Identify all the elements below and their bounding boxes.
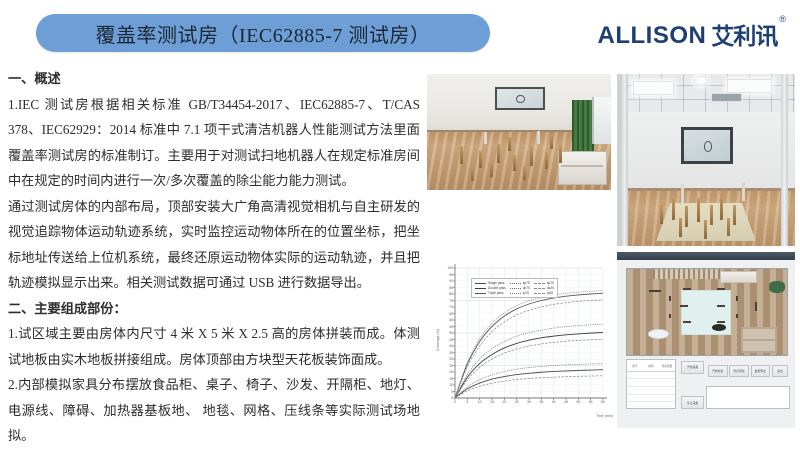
- obstacle-post: [685, 206, 688, 227]
- obstacle-marker: [669, 314, 671, 318]
- obstacle-post: [704, 220, 707, 239]
- obstacle-post: [513, 155, 516, 171]
- measurement-table[interactable]: 序号 时间 坐标位置: [626, 359, 676, 409]
- chart-x-tick-label: 40: [552, 398, 556, 404]
- section-2-heading: 二、主要组成部份：: [8, 296, 420, 322]
- table-row: [627, 394, 675, 395]
- chart-legend-item: sp75: [510, 281, 530, 285]
- section-1-heading: 一、概述: [8, 66, 420, 92]
- door-edge: [617, 74, 622, 246]
- software-title-bar: [617, 252, 795, 260]
- obstacle-marker: [683, 288, 691, 290]
- chart-y-tick-label: 30: [449, 357, 455, 361]
- chart-y-tick-label: 85: [449, 286, 455, 290]
- pause-test-button[interactable]: 暂停测试: [729, 365, 749, 378]
- ceiling-vent: [711, 93, 741, 102]
- chart-legend-swatch: [534, 293, 545, 294]
- chart-legend-swatch: [510, 283, 521, 284]
- obstacle-marker: [717, 288, 725, 290]
- chart-y-axis-label: Coverage (%): [436, 329, 440, 351]
- chart-legend-swatch: [475, 288, 486, 289]
- chart-y-tick-label: 100: [447, 266, 455, 270]
- chart-y-tick-label: 70: [449, 305, 455, 309]
- table-header-cell: 坐标位置: [659, 360, 675, 370]
- brand-logo: ALLISON 艾利讯 ®: [598, 14, 786, 48]
- obstacle-post: [460, 146, 463, 165]
- obstacle-marker: [736, 314, 738, 318]
- chart-legend-item: dp75: [510, 286, 530, 290]
- chart-legend-item: dp25: [534, 286, 554, 290]
- test-room-photo-wide: [617, 74, 795, 246]
- chart-y-tick-label: 15: [449, 377, 455, 381]
- chart-legend-label: Double pass: [488, 286, 506, 290]
- obstacle-post: [523, 166, 526, 180]
- log-output-panel[interactable]: [706, 386, 790, 409]
- obstacle-post: [497, 144, 500, 164]
- obstacle-post: [537, 131, 540, 144]
- chart-y-tick-label: 40: [449, 344, 455, 348]
- chart-plot-area: 0510152025303540455055606570758085909510…: [455, 268, 603, 398]
- obstacle-post: [672, 198, 675, 220]
- exit-button[interactable]: 退出: [772, 365, 788, 378]
- obstacle-post: [733, 205, 736, 226]
- obstacle-post: [490, 162, 493, 177]
- chart-y-tick-label: 60: [449, 318, 455, 322]
- chart-legend-item: sp25: [534, 281, 554, 285]
- chart-x-tick-label: 0: [454, 398, 456, 404]
- description-column: 一、概述 1.IEC 测试房根据相关标准 GB/T34454-2017、IEC6…: [8, 66, 420, 449]
- chart-legend-item: Double pass: [475, 286, 506, 290]
- obstacle-post: [545, 152, 548, 169]
- obstacle-post: [550, 135, 553, 149]
- robot-vacuum: [712, 324, 726, 331]
- slide-page: 覆盖率测试房（IEC62885-7 测试房） ALLISON 艾利讯 ® 一、概…: [0, 0, 800, 450]
- obstacle-marker: [717, 321, 725, 323]
- chart-y-tick-label: 90: [449, 279, 455, 283]
- chart-y-tick-label: 10: [449, 383, 455, 387]
- chart-x-tick-label: 20: [502, 398, 506, 404]
- ceiling-light: [727, 79, 772, 93]
- chart-x-tick-label: 5: [466, 398, 468, 404]
- ceiling-light: [633, 81, 674, 95]
- chart-legend-label: dp25: [547, 286, 554, 290]
- start-test-button[interactable]: 开始测试: [708, 365, 728, 378]
- wall-mounted-panel: [495, 87, 545, 111]
- obstacle-post: [559, 145, 562, 164]
- test-room-photo-floor: [427, 74, 611, 190]
- wall-mounted-panel: [681, 127, 733, 164]
- chart-legend-item: tp75: [510, 291, 530, 295]
- obstacle-post: [484, 132, 487, 144]
- obstacle-marker: [669, 296, 671, 300]
- chart-x-tick-label: 30: [527, 398, 531, 404]
- obstacle-post: [530, 146, 533, 166]
- obstacle-marker: [683, 321, 691, 323]
- chart-x-axis-label: Time (min): [596, 414, 613, 418]
- chart-x-tick-label: 10: [478, 398, 482, 404]
- section-1-paragraph-1: 1.IEC 测试房根据相关标准 GB/T34454-2017、IEC62885-…: [8, 92, 420, 194]
- coverage-chart: Coverage (%) Time (min) 0510152025303540…: [427, 256, 615, 424]
- chart-x-tick-label: 60: [601, 398, 605, 404]
- obstacle-post: [508, 137, 511, 151]
- logo-text-en: ALLISON: [598, 24, 707, 48]
- obstacle-marker: [717, 305, 725, 307]
- chart-y-tick-label: 95: [449, 273, 455, 277]
- chart-y-tick-label: 75: [449, 299, 455, 303]
- table-row: [627, 378, 675, 379]
- ceiling-vent-topdown: [653, 269, 720, 279]
- obstacle-post: [681, 184, 684, 203]
- overhead-camera-view: [626, 268, 788, 356]
- chart-legend-label: tp75: [523, 291, 529, 295]
- chart-legend-item: Triple pass: [475, 291, 506, 295]
- table-row: [627, 386, 675, 387]
- start-capture-button[interactable]: 开始采集: [681, 361, 704, 374]
- chart-legend-swatch: [510, 293, 521, 294]
- chart-legend: Single passsp75sp25Double passdp75dp25Tr…: [471, 278, 558, 298]
- logo-text-cn: 艾利讯: [711, 25, 777, 48]
- obstacle-marker: [736, 296, 738, 300]
- table-header-cell: 序号: [627, 360, 643, 370]
- chart-x-tick-label: 55: [589, 398, 593, 404]
- obstacle-post: [697, 198, 700, 222]
- chart-legend-swatch: [475, 283, 486, 284]
- chart-legend-swatch: [510, 288, 521, 289]
- chart-legend-swatch: [534, 283, 545, 284]
- floor-lamp-topdown: [648, 329, 669, 339]
- obstacle-post: [679, 218, 682, 237]
- page-title-banner: 覆盖率测试房（IEC62885-7 测试房）: [36, 14, 490, 52]
- chart-y-tick-label: 20: [449, 370, 455, 374]
- chart-legend-swatch: [475, 293, 486, 294]
- chart-x-tick-label: 15: [490, 398, 494, 404]
- chart-x-tick-label: 45: [564, 398, 568, 404]
- chart-legend-label: dp75: [523, 286, 530, 290]
- chart-legend-label: sp75: [523, 281, 530, 285]
- chart-x-tick-label: 25: [515, 398, 519, 404]
- obstacle-post: [710, 205, 713, 226]
- obstacle-post: [742, 182, 745, 201]
- chart-legend-swatch: [534, 288, 545, 289]
- plant-topdown: [769, 281, 785, 293]
- chart-y-tick-label: 80: [449, 292, 455, 296]
- obstacle-post: [479, 151, 482, 168]
- chart-y-tick-label: 25: [449, 364, 455, 368]
- chart-y-tick-label: 65: [449, 312, 455, 316]
- chart-x-tick-label: 50: [576, 398, 580, 404]
- chart-x-tick-label: 35: [539, 398, 543, 404]
- export-data-button[interactable]: 数据导出: [751, 365, 771, 378]
- section-1-paragraph-2: 通过测试房体的内部布局，顶部安装大广角高清视觉相机与自主研发的视觉追踪物体运动轨…: [8, 194, 420, 296]
- chart-legend-label: tp25: [547, 291, 553, 295]
- page-title: 覆盖率测试房（IEC62885-7 测试房）: [96, 19, 431, 48]
- obstacle-marker: [680, 305, 688, 307]
- registered-trademark-icon: ®: [779, 14, 786, 24]
- tracking-software-screenshot: 序号 时间 坐标位置 开始采集 停止采集 开始测试 暂停测试 数据导出 退出: [617, 252, 795, 428]
- chart-y-tick-label: 45: [449, 338, 455, 342]
- obstacle-marker: [649, 290, 660, 292]
- table-row: [627, 401, 675, 402]
- window: [592, 97, 611, 143]
- green-curtain: [572, 100, 594, 158]
- chart-y-tick-label: 50: [449, 331, 455, 335]
- chart-legend-label: Triple pass: [488, 291, 503, 295]
- step-platform: [558, 151, 608, 185]
- chart-y-tick-label: 55: [449, 325, 455, 329]
- chart-y-tick-label: 35: [449, 351, 455, 355]
- section-2-paragraph-1: 1.试区域主要由房体内尺寸 4 米 X 5 米 X 2.5 高的房体拼装而成。体…: [8, 321, 420, 372]
- chart-y-tick-label: 5: [451, 390, 455, 394]
- shelf-topdown: [720, 271, 757, 283]
- obstacle-marker: [755, 302, 757, 311]
- table-header-row: 序号 时间 坐标位置: [627, 360, 675, 371]
- grid-obstacle-topdown: [741, 327, 777, 353]
- obstacle-post: [720, 196, 723, 220]
- chart-legend-item: Single pass: [475, 281, 506, 285]
- stop-capture-button[interactable]: 停止采集: [681, 396, 704, 409]
- chart-legend-label: sp25: [547, 281, 554, 285]
- table-header-cell: 时间: [643, 360, 659, 370]
- section-2-paragraph-2: 2.内部模拟家具分布摆放食品柜、桌子、椅子、沙发、开隔柜、地灯、电源线、障碍、加…: [8, 372, 420, 449]
- door-frame: [781, 74, 788, 246]
- chart-legend-item: tp25: [534, 291, 554, 295]
- obstacle-post: [660, 205, 663, 224]
- obstacle-post: [727, 218, 730, 235]
- obstacle-post: [471, 167, 474, 181]
- chart-legend-label: Single pass: [488, 281, 504, 285]
